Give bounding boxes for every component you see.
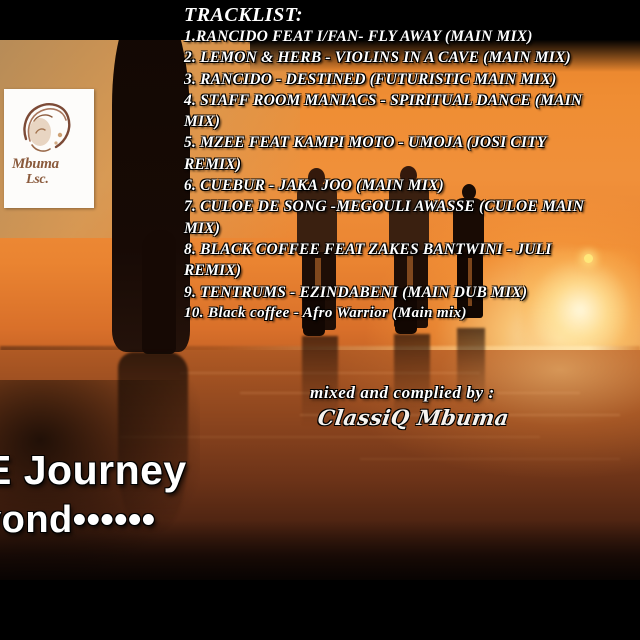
mix-credit-signature: ClassiQ Mbuma	[316, 405, 511, 430]
tracklist-item: 2. LEMON & HERB - VIOLINS IN A CAVE (MAI…	[184, 47, 640, 68]
bottom-black-band	[0, 580, 640, 640]
tracklist-heading: TRACKLIST:	[184, 4, 640, 26]
tracklist-item: 8. BLACK COFFEE FEAT ZAKES BANTWINI - JU…	[184, 239, 640, 260]
tracklist-item-wrap: MIX)	[184, 218, 640, 239]
tracklist-item: 5. MZEE FEAT KAMPI MOTO - UMOJA (JOSI CI…	[184, 132, 640, 153]
tracklist-item-wrap: REMIX)	[184, 154, 640, 175]
tracklist-item: 6. CUEBUR - JAKA JOO (MAIN MIX)	[184, 175, 640, 196]
logo-wordmark: Mbuma Lsc.	[12, 157, 86, 187]
tracklist-block: TRACKLIST: 1.RANCIDO FEAT I/FAN- FLY AWA…	[184, 4, 640, 324]
album-artwork: Mbuma Lsc. TRACKLIST: 1.RANCIDO FEAT I/F…	[0, 0, 640, 640]
tracklist-item: 1.RANCIDO FEAT I/FAN- FLY AWAY (MAIN MIX…	[184, 26, 640, 47]
logo-wordmark-line-2: Lsc.	[12, 172, 86, 187]
tracklist-item-wrap: MIX)	[184, 111, 640, 132]
sand-ripple	[360, 458, 620, 460]
tracklist-item: 7. CULOE DE SONG -MEGOULI AWASSE (CULOE …	[184, 196, 640, 217]
album-title-line-1: E Journey	[0, 448, 187, 493]
record-label-logo-card: Mbuma Lsc.	[4, 89, 94, 208]
tracklist-item: 4. STAFF ROOM MANIACS - SPIRITUAL DANCE …	[184, 90, 640, 111]
tracklist-item-wrap: REMIX)	[184, 260, 640, 281]
tracklist-item: 9. TENTRUMS - EZINDABENI (MAIN DUB MIX)	[184, 282, 640, 303]
mix-credit-label: mixed and complied by :	[310, 381, 495, 405]
tracklist-item: 3. RANCIDO - DESTINED (FUTURISTIC MAIN M…	[184, 69, 640, 90]
logo-wordmark-line-1: Mbuma	[12, 157, 86, 172]
tracklist-item: 10. Black coffee - Afro Warrior (Main mi…	[184, 303, 640, 324]
album-title-line-2: yond••••••	[0, 499, 156, 541]
foreground-figure-leg	[142, 230, 176, 354]
